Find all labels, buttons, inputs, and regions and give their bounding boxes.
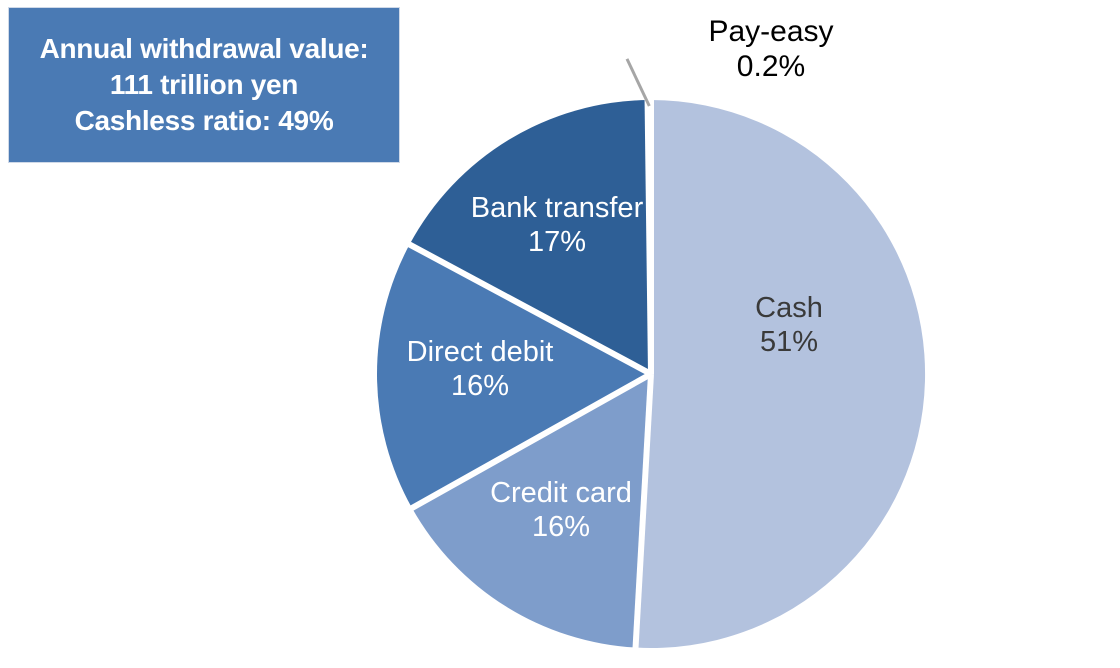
pie-chart-figure: Annual withdrawal value: 111 trillion ye… <box>0 0 1120 668</box>
pie-svg <box>0 0 1120 668</box>
pie-slice-cash[interactable] <box>636 100 926 648</box>
payeasy-leader-line <box>627 59 649 106</box>
